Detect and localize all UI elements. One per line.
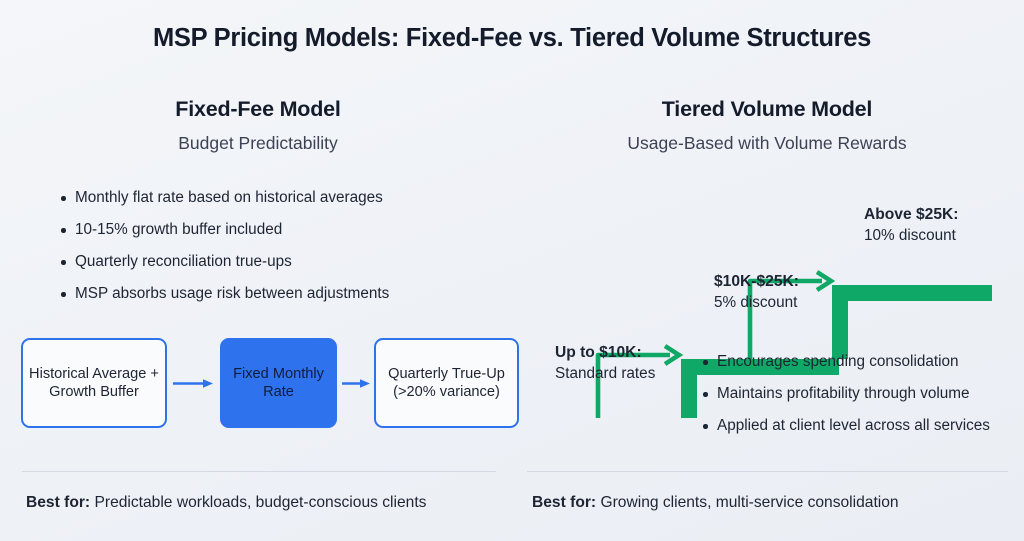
bullet-text: Maintains profitability through volume xyxy=(717,385,970,402)
tier-name: Above $25K: xyxy=(864,205,1024,226)
tier-name: Up to $10K: xyxy=(555,343,715,364)
panel-fixed-fee: Fixed-Fee Model Budget Predictability Mo… xyxy=(18,95,498,515)
bullet-text: Encourages spending consolidation xyxy=(717,353,959,370)
divider-right xyxy=(527,471,1008,472)
list-item: Applied at client level across all servi… xyxy=(700,416,1000,436)
list-item: MSP absorbs usage risk between adjustmen… xyxy=(58,284,488,304)
list-item: Encourages spending consolidation xyxy=(700,352,1000,372)
bullet-text: MSP absorbs usage risk between adjustmen… xyxy=(75,285,389,302)
tier-detail: 5% discount xyxy=(714,294,797,311)
best-for-left: Best for: Predictable workloads, budget-… xyxy=(26,493,426,513)
best-for-right: Best for: Growing clients, multi-service… xyxy=(532,493,899,513)
flow-node-quarterly-true-up: Quarterly True-Up (>20% variance) xyxy=(374,338,519,428)
panel-tiered-volume: Tiered Volume Model Usage-Based with Vol… xyxy=(524,95,1010,515)
bullet-text: Monthly flat rate based on historical av… xyxy=(75,189,383,206)
flow-node-label: Quarterly True-Up (>20% variance) xyxy=(376,365,517,402)
right-bullet-list: Encourages spending consolidation Mainta… xyxy=(700,352,1000,448)
left-bullet-list: Monthly flat rate based on historical av… xyxy=(58,188,488,316)
tier-detail: Standard rates xyxy=(555,365,655,382)
tier-name: $10K-$25K: xyxy=(714,272,889,293)
tier-label-1: Up to $10K: Standard rates xyxy=(555,343,715,384)
divider-left xyxy=(22,471,496,472)
best-for-text: Growing clients, multi-service consolida… xyxy=(600,494,898,511)
flow-node-label: Historical Average + Growth Buffer xyxy=(23,365,165,402)
bullet-text: Applied at client level across all servi… xyxy=(717,417,990,434)
best-for-label: Best for: xyxy=(26,494,90,511)
flow-node-fixed-monthly-rate: Fixed Monthly Rate xyxy=(220,338,337,428)
best-for-label: Best for: xyxy=(532,494,596,511)
right-panel-subtitle: Usage-Based with Volume Rewards xyxy=(524,132,1010,154)
left-panel-subtitle: Budget Predictability xyxy=(18,132,498,154)
fixed-fee-flow-diagram: Historical Average + Growth Buffer Fixed… xyxy=(21,338,491,430)
infographic-root: MSP Pricing Models: Fixed-Fee vs. Tiered… xyxy=(0,0,1024,541)
left-panel-title: Fixed-Fee Model xyxy=(18,95,498,123)
tier-label-3: Above $25K: 10% discount xyxy=(864,205,1024,246)
list-item: Monthly flat rate based on historical av… xyxy=(58,188,488,208)
bullet-text: Quarterly reconciliation true-ups xyxy=(75,253,292,270)
arrow-right-icon xyxy=(342,379,369,388)
right-panel-title: Tiered Volume Model xyxy=(524,95,1010,123)
tier-label-2: $10K-$25K: 5% discount xyxy=(714,272,889,313)
best-for-text: Predictable workloads, budget-conscious … xyxy=(94,494,426,511)
arrow-right-icon xyxy=(173,379,215,388)
flow-node-historical-average: Historical Average + Growth Buffer xyxy=(21,338,167,428)
page-title: MSP Pricing Models: Fixed-Fee vs. Tiered… xyxy=(0,24,1024,53)
list-item: Quarterly reconciliation true-ups xyxy=(58,252,488,272)
list-item: Maintains profitability through volume xyxy=(700,384,1000,404)
flow-node-label: Fixed Monthly Rate xyxy=(222,365,335,402)
tier-detail: 10% discount xyxy=(864,227,956,244)
list-item: 10-15% growth buffer included xyxy=(58,220,488,240)
bullet-text: 10-15% growth buffer included xyxy=(75,221,282,238)
